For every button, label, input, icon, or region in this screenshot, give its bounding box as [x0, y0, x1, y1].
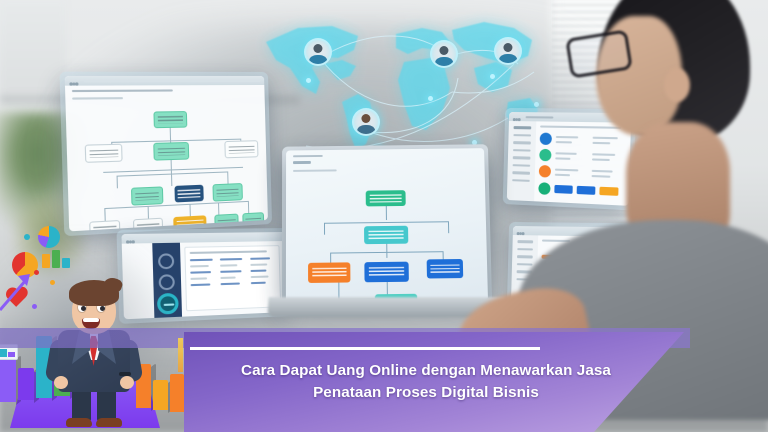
flow-node-input[interactable] — [85, 144, 123, 163]
person-ear — [664, 68, 690, 102]
flowchart-left — [66, 104, 268, 231]
banner-accent-outer — [178, 338, 183, 372]
map-connection-lines — [246, 6, 546, 156]
dashboard-sidebar[interactable] — [507, 121, 537, 201]
flow-node-task-b[interactable] — [212, 183, 242, 202]
character-leg-right — [97, 388, 116, 422]
flow-node-default-action[interactable] — [427, 259, 464, 279]
flow-node-start[interactable] — [153, 111, 187, 128]
character-watch — [119, 372, 131, 376]
character-hand-left — [54, 376, 68, 389]
flow-node-task-highlight[interactable] — [174, 185, 203, 203]
screenshot-stage: Cara Dapat Uang Online dengan Menawarkan… — [0, 0, 768, 432]
flow-node-validate[interactable] — [364, 226, 408, 244]
map-node-dot — [306, 78, 311, 83]
window-controls[interactable] — [69, 76, 78, 91]
page-title: Cara Dapat Uang Online dengan Menawarkan… — [224, 360, 628, 403]
avatar-head — [361, 114, 370, 123]
avatar-body — [309, 55, 327, 66]
bar-chart-bar — [170, 374, 184, 412]
flow-node-process[interactable] — [153, 142, 189, 161]
avatar-south-america[interactable] — [352, 108, 380, 136]
mini-bar — [52, 250, 60, 268]
browser-flowchart-left[interactable] — [65, 76, 268, 231]
bar-chart-bar — [153, 380, 168, 410]
pie-chart-cyan — [38, 226, 60, 248]
avatar-head — [503, 43, 512, 52]
avatar-body — [499, 54, 517, 65]
mini-bar — [62, 258, 70, 268]
flow-node-output[interactable] — [224, 140, 258, 158]
bar-chart-bar — [18, 368, 34, 400]
panel-table-body — [184, 245, 281, 311]
bar-chart-bar — [0, 356, 16, 402]
flow-node-scheduled-setup[interactable] — [364, 262, 409, 283]
character-leg-left — [72, 388, 91, 422]
flow-node-route-ops[interactable] — [308, 262, 350, 283]
flowchart-center — [286, 181, 488, 301]
avatar-body — [435, 57, 453, 68]
map-node-dot — [534, 102, 539, 107]
page-title-line-1: Cara Dapat Uang Online dengan Menawarkan… — [241, 362, 611, 379]
banner-rule — [190, 347, 540, 350]
map-node-dot — [490, 74, 495, 79]
page-title-line-2: Penataan Proses Digital Bisnis — [313, 384, 539, 401]
avatar-north-america[interactable] — [304, 38, 332, 66]
dot-marker — [24, 234, 30, 240]
laptop-flowchart-center[interactable] — [286, 148, 488, 301]
character-hand-right — [120, 376, 134, 389]
avatar-asia[interactable] — [494, 37, 522, 65]
map-node-dot — [428, 96, 433, 101]
character-shoe-left — [66, 418, 92, 427]
avatar-europe[interactable] — [430, 40, 458, 68]
mini-bar — [42, 254, 50, 268]
character-shoe-right — [96, 418, 122, 427]
flow-node-task-a[interactable] — [131, 186, 163, 205]
avatar-head — [439, 46, 448, 55]
avatar-head — [313, 44, 322, 53]
holographic-world-map — [246, 6, 546, 156]
3d-character — [48, 278, 140, 426]
flow-node-start[interactable] — [366, 190, 406, 206]
arrow-up-icon — [0, 266, 40, 314]
table-row[interactable] — [190, 258, 276, 287]
avatar-body — [357, 125, 375, 136]
